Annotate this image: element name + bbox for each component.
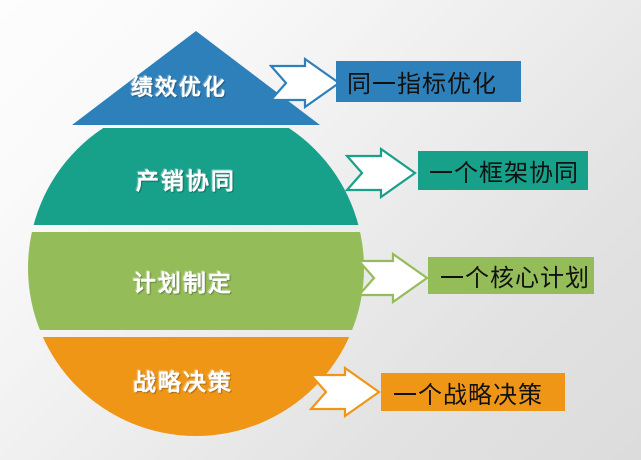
right-arrow-icon-plan-formulation: [357, 252, 429, 304]
right-arrow-icon-performance-optimization: [269, 57, 341, 109]
tier-label-strategic-decision: 战略决策: [133, 363, 233, 397]
callout-plan-formulation: 一个核心计划: [428, 257, 594, 294]
right-arrow-icon-sales-production-collaboration: [345, 147, 417, 199]
callout-sales-production-collaboration: 一个框架协同: [418, 151, 588, 190]
tier-label-plan-formulation: 计划制定: [133, 264, 233, 298]
diagram-canvas: 绩效优化 产销协同 计划制定 战略决策 同一指标优化 一个框架协同 一个核心计划…: [0, 0, 641, 460]
callout-performance-optimization: 同一指标优化: [336, 61, 521, 102]
right-arrow-icon-strategic-decision: [309, 366, 381, 418]
tier-label-performance-optimization: 绩效优化: [131, 70, 227, 102]
tier-label-sales-production-collaboration: 产销协同: [136, 162, 236, 196]
callout-strategic-decision: 一个战略决策: [381, 373, 565, 411]
